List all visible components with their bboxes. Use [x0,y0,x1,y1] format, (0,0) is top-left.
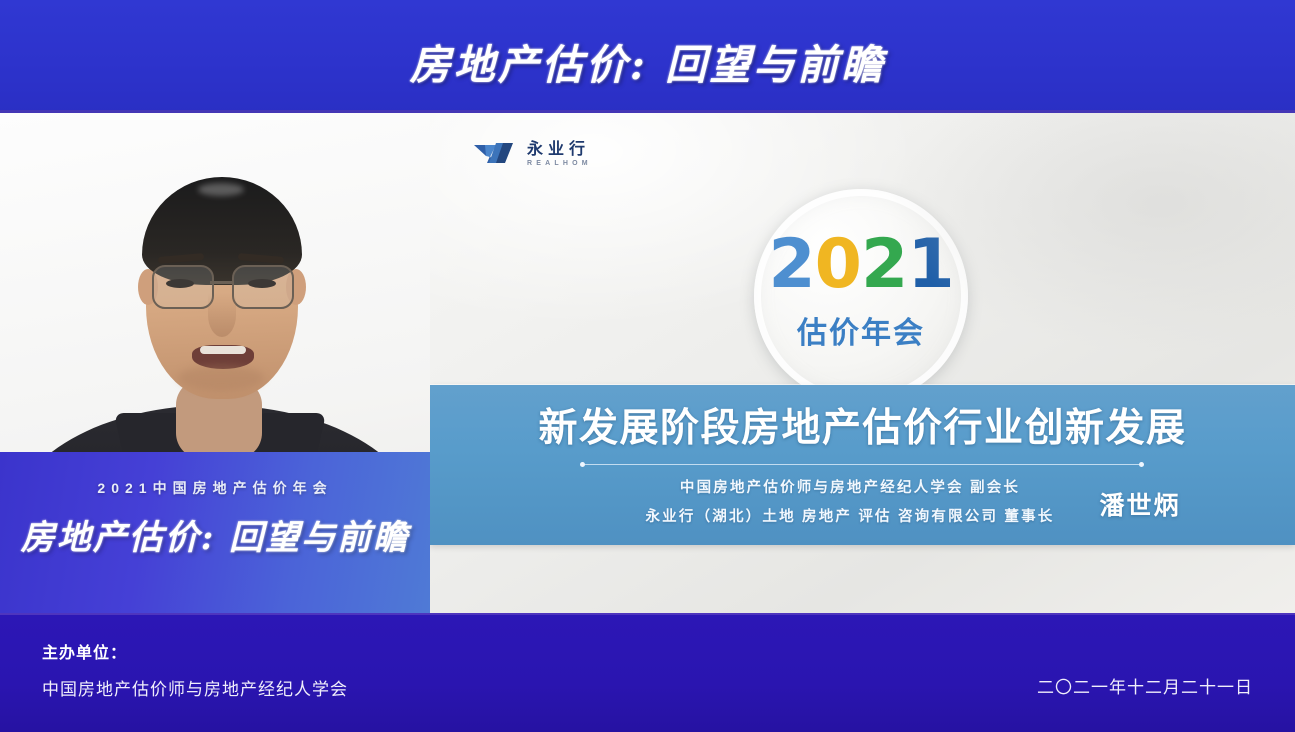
year-badge: 2021 估价年会 [754,189,968,403]
subtitle-divider [582,464,1142,465]
badge-digit-2: 0 [815,231,861,299]
logo-wordmark: 永业行 REALHOM [527,141,592,167]
host-organization: 中国房地产估价师与房地产经纪人学会 [42,675,348,700]
eyeglass-lens-right [232,265,294,309]
badge-digit-4: 1 [907,231,953,299]
lower-third-overlay: 2021中国房地产估价年会 房地产估价: 回望与前瞻 [0,452,430,613]
event-date: 二〇二一年十二月二十一日 [1037,673,1253,698]
logo-chinese-name: 永业行 [527,141,592,157]
logo-english-name: REALHOM [527,160,592,167]
badge-digit-3: 2 [861,231,907,299]
eyeglass-lens-left [152,265,214,309]
chin-shadow [178,365,264,391]
brand-logo: 永业行 REALHOM [472,139,592,169]
overlay-event-name: 2021中国房地产估价年会 [0,478,430,498]
page-title: 房地产估价: 回望与前瞻 [0,31,1295,91]
overlay-session-title: 房地产估价: 回望与前瞻 [0,510,430,559]
badge-year-digits: 2021 [754,231,968,299]
slide-headline: 新发展阶段房地产估价行业创新发展 [430,409,1295,448]
eyeglass-bridge [210,281,232,284]
screen: 房地产估价: 回望与前瞻 2021中国房地产估价年会 房地产估价: 回望与前瞻 [0,0,1295,732]
nose [208,293,236,337]
presentation-slide[interactable]: 永业行 REALHOM 2021 估价年会 新发展阶段房地产估价行业创新发展 中… [430,113,1295,613]
badge-subtitle: 估价年会 [754,319,968,349]
yh-monogram-icon [472,139,518,169]
teeth [200,346,246,354]
header-banner: 房地产估价: 回望与前瞻 [0,0,1295,113]
speaker-name: 潘世炳 [1020,486,1260,522]
host-label: 主办单位： [42,639,127,663]
slide-title-panel: 新发展阶段房地产估价行业创新发展 中国房地产估价师与房地产经纪人学会 副会长 永… [430,385,1295,545]
footer-banner: 主办单位： 中国房地产估价师与房地产经纪人学会 二〇二一年十二月二十一日 [0,613,1295,732]
badge-digit-1: 2 [768,231,814,299]
